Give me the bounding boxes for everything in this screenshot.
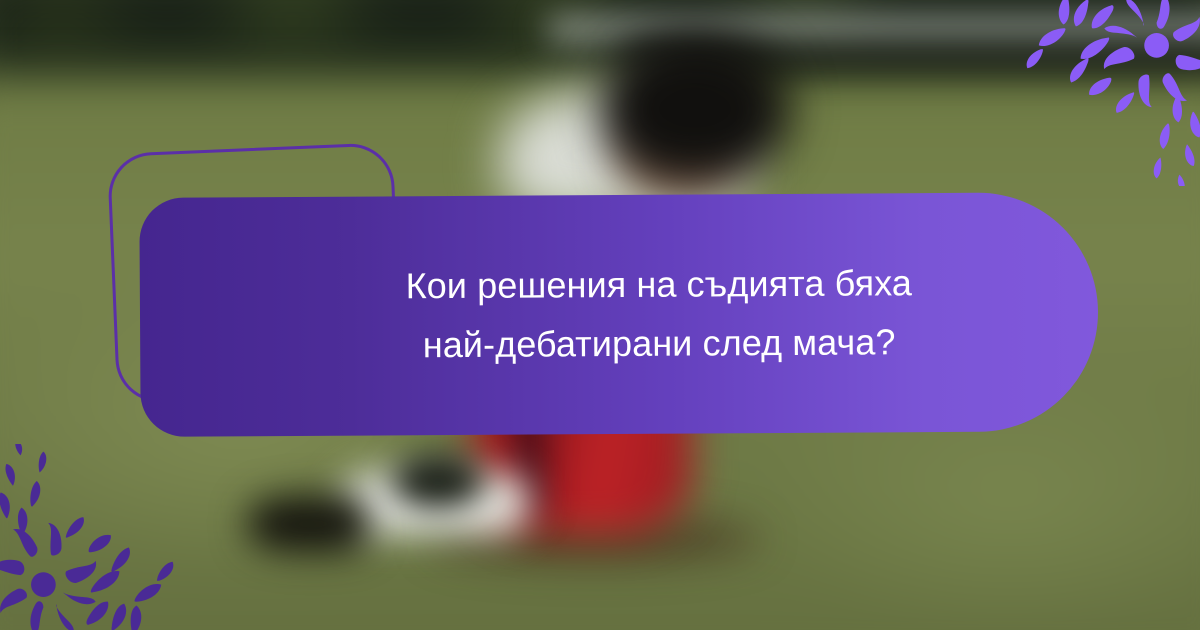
headline-line-2: най-дебатирани след мача? [406,313,913,374]
background-player-boot-left [248,496,368,552]
headline-card: Кои решения на съдията бяха най-дебатира… [139,192,1098,437]
background-rail [549,18,1200,44]
headline-text: Кои решения на съдията бяха най-дебатира… [285,254,952,375]
headline-line-1: Кои решения на съдията бяха [405,254,912,315]
background-player-boot-right [392,454,484,508]
social-card-canvas: Кои решения на съдията бяха най-дебатира… [0,0,1200,630]
background-player-hair [600,32,790,182]
